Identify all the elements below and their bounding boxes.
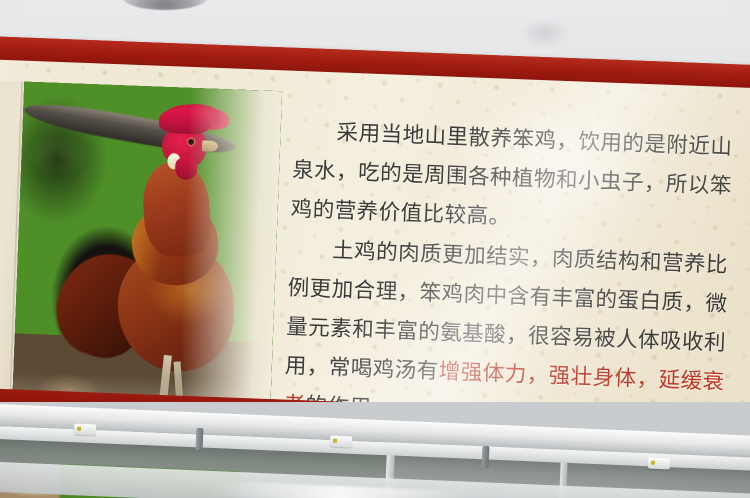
price-tag-clip-2[interactable]: [330, 436, 352, 448]
wall-smudge: [520, 18, 570, 48]
paragraph-1-text: 采用当地山里散养笨鸡，饮用的是附近山泉水，吃的是周围各种植物和小虫子，所以笨鸡的…: [290, 120, 733, 230]
banner-paper: 约 能 之 飘 约: [0, 58, 750, 418]
banner-red-frame: 约 能 之 飘 约: [0, 36, 750, 438]
photograph-scene: 约 能 之 飘 约: [0, 0, 750, 498]
paragraph-1: 采用当地山里散养笨鸡，饮用的是附近山泉水，吃的是周围各种植物和小虫子，所以笨鸡的…: [290, 112, 746, 246]
price-tag-clip-3[interactable]: [648, 458, 670, 470]
banner-text-block: 采用当地山里散养笨鸡，饮用的是附近山泉水，吃的是周围各种植物和小虫子，所以笨鸡的…: [283, 112, 746, 442]
photo-right-fade: [178, 88, 282, 421]
clip-dot-2: [333, 439, 337, 443]
refrigerated-display-case: [0, 402, 750, 498]
case-hook-2: [482, 446, 490, 468]
clip-dot-1: [77, 427, 81, 431]
price-tag-clip-1[interactable]: [74, 424, 96, 436]
clip-dot-3: [651, 461, 655, 465]
case-hook-1: [196, 428, 204, 450]
rooster-photograph: [12, 82, 282, 421]
promotional-banner: 约 能 之 飘 约: [0, 36, 750, 456]
